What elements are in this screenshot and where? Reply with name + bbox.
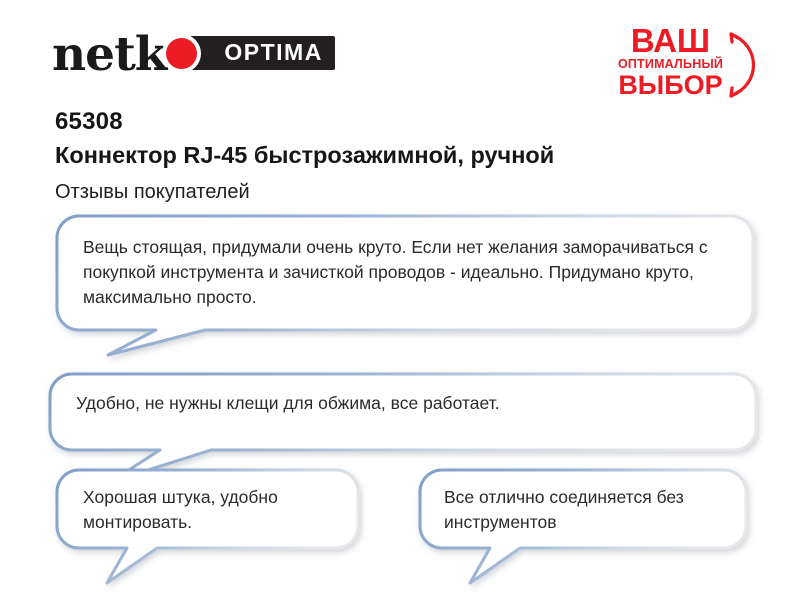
review-graphic-page: netk OPTIMA ВАШ ОПТИМАЛЬНЫЙ ВЫБОР 6530 [0,0,800,600]
red-circle-o-icon [166,38,197,69]
brand-dot-wrap [164,28,210,78]
review-bubble: Хорошая штука, удобно монтировать. [55,468,360,590]
review-text: Вещь стоящая, придумали очень круто. Есл… [83,235,733,310]
optima-label: OPTIMA [224,41,322,64]
review-text: Все отлично соединяется без инструментов [444,485,729,535]
optima-bar: OPTIMA [190,36,334,70]
reviews-list: Вещь стоящая, придумали очень круто. Есл… [0,0,800,600]
review-text: Хорошая штука, удобно монтировать. [83,485,333,535]
review-bubble: Все отлично соединяется без инструментов [418,468,748,590]
review-text: Удобно, не нужны клещи для обжима, все р… [76,391,736,416]
review-bubble: Вещь стоящая, придумали очень круто. Есл… [55,214,755,359]
